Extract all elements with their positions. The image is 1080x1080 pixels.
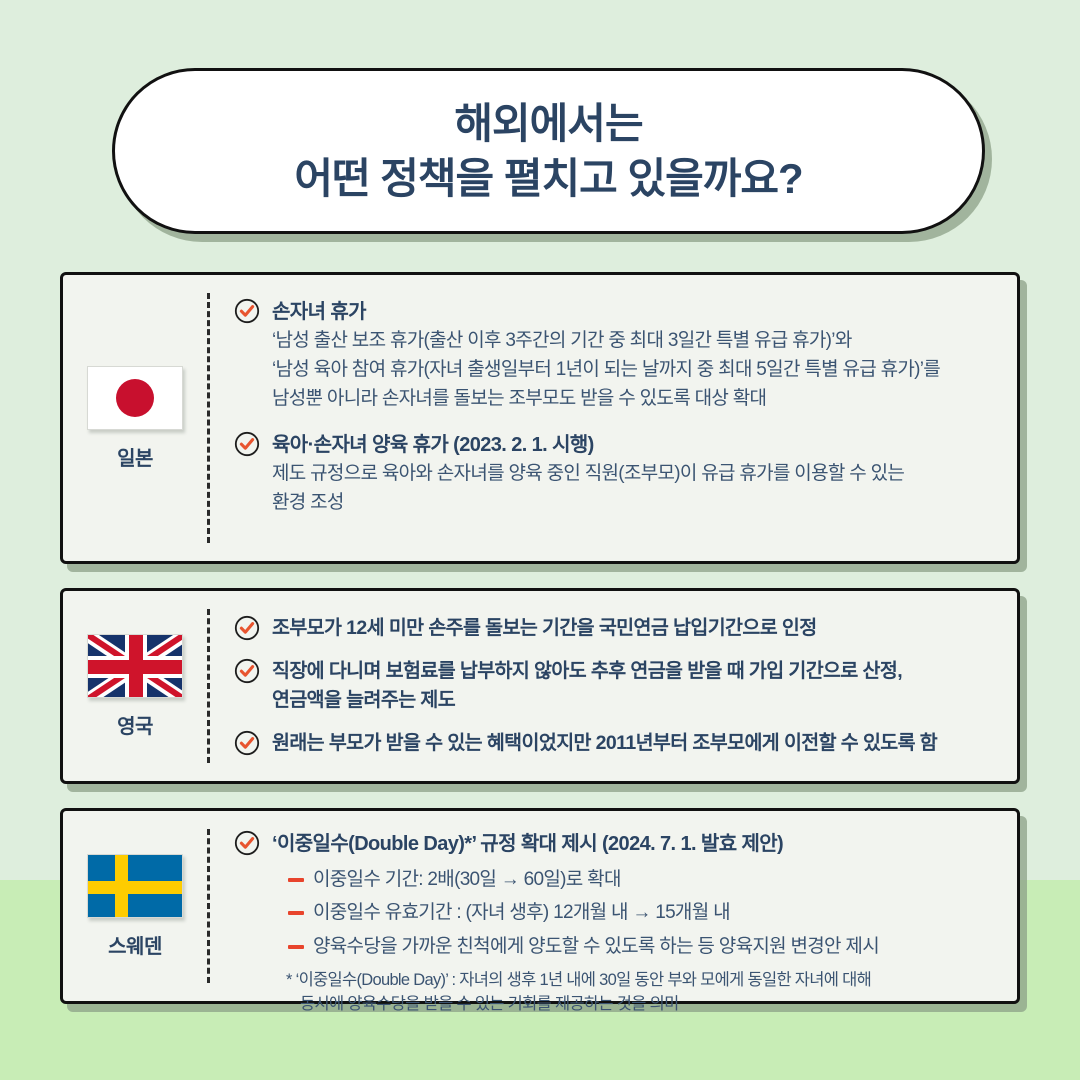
sub-bullet-text: 이중일수 기간: 2배(30일 → 60일)로 확대 — [313, 865, 621, 894]
check-circle-icon — [234, 298, 260, 324]
bullet-item: 육아·손자녀 양육 휴가 (2023. 2. 1. 시행) 제도 규정으로 육아… — [234, 430, 997, 518]
uk-cross-red-v — [129, 635, 143, 698]
flag-column: 영국 — [63, 591, 207, 781]
bullet-body: 조부모가 12세 미만 손주를 돌보는 기간을 국민연금 납입기간으로 인정 — [272, 614, 997, 643]
check-circle-icon — [234, 830, 260, 856]
flag-japan-icon — [87, 366, 183, 430]
check-circle-icon — [234, 615, 260, 641]
bullet-line: 남성뿐 아니라 손자녀를 돌보는 조부모도 받을 수 있도록 대상 확대 — [272, 385, 997, 414]
bullet-item: 조부모가 12세 미만 손주를 돌보는 기간을 국민연금 납입기간으로 인정 — [234, 614, 997, 643]
bullet-line: ‘남성 육아 참여 휴가(자녀 출생일부터 1년이 되는 날까지 중 최대 5일… — [272, 356, 997, 385]
dash-icon — [288, 878, 304, 882]
bullet-item: ‘이중일수(Double Day)*’ 규정 확대 제시 (2024. 7. 1… — [234, 829, 997, 1017]
sweden-cross-v — [115, 855, 128, 918]
dash-icon — [288, 911, 304, 915]
bullet-line: 조부모가 12세 미만 손주를 돌보는 기간을 국민연금 납입기간으로 인정 — [272, 614, 997, 643]
card-content-uk: 조부모가 12세 미만 손주를 돌보는 기간을 국민연금 납입기간으로 인정 직… — [210, 591, 1017, 781]
flag-uk-icon — [87, 634, 183, 698]
country-label-sweden: 스웨덴 — [108, 930, 162, 959]
bullet-body: 손자녀 휴가 ‘남성 출산 보조 휴가(출산 이후 3주간의 기간 중 최대 3… — [272, 297, 997, 414]
bullet-heading: 육아·손자녀 양육 휴가 (2023. 2. 1. 시행) — [272, 430, 997, 460]
bullet-item: 손자녀 휴가 ‘남성 출산 보조 휴가(출산 이후 3주간의 기간 중 최대 3… — [234, 297, 997, 414]
check-circle-icon — [234, 730, 260, 756]
sub-bullet-list: 이중일수 기간: 2배(30일 → 60일)로 확대 이중일수 유효기간 : (… — [272, 865, 997, 961]
bullet-body: 육아·손자녀 양육 휴가 (2023. 2. 1. 시행) 제도 규정으로 육아… — [272, 430, 997, 518]
bullet-line: ‘남성 출산 보조 휴가(출산 이후 3주간의 기간 중 최대 3일간 특별 유… — [272, 327, 997, 356]
flag-column: 일본 — [63, 275, 207, 561]
bullet-body: 원래는 부모가 받을 수 있는 혜택이었지만 2011년부터 조부모에게 이전할… — [272, 729, 997, 758]
sweden-cross-h — [88, 881, 183, 894]
country-label-japan: 일본 — [117, 442, 153, 471]
country-label-uk: 영국 — [117, 710, 153, 739]
country-card-uk: 영국 조부모가 12세 미만 손주를 돌보는 기간을 국민연금 납입기간으로 인… — [60, 588, 1020, 784]
flag-sweden-icon — [87, 854, 183, 918]
title-line-2: 어떤 정책을 펼치고 있을까요? — [294, 153, 802, 204]
bullet-line: 환경 조성 — [272, 489, 997, 518]
dash-icon — [288, 945, 304, 949]
bullet-body: 직장에 다니며 보험료를 납부하지 않아도 추후 연금을 받을 때 가입 기간으… — [272, 657, 997, 716]
sub-bullet-text: 이중일수 유효기간 : (자녀 생후) 12개월 내 → 15개월 내 — [313, 898, 730, 927]
card-content-sweden: ‘이중일수(Double Day)*’ 규정 확대 제시 (2024. 7. 1… — [210, 811, 1017, 1001]
card-content-japan: 손자녀 휴가 ‘남성 출산 보조 휴가(출산 이후 3주간의 기간 중 최대 3… — [210, 275, 1017, 561]
country-card-japan: 일본 손자녀 휴가 ‘남성 출산 보조 휴가(출산 이후 3주간의 기간 중 최… — [60, 272, 1020, 564]
footnote-line-2: 동시에 양육수당을 받을 수 있는 기회를 제공하는 것을 의미 — [286, 993, 997, 1017]
title-line-1: 해외에서는 — [454, 98, 642, 149]
bullet-line: 연금액을 늘려주는 제도 — [272, 686, 997, 715]
title-card: 해외에서는 어떤 정책을 펼치고 있을까요? — [112, 68, 985, 234]
bullet-item: 원래는 부모가 받을 수 있는 혜택이었지만 2011년부터 조부모에게 이전할… — [234, 729, 997, 758]
japan-sun-disc — [116, 379, 154, 417]
check-circle-icon — [234, 658, 260, 684]
check-circle-icon — [234, 431, 260, 457]
sub-bullet-text: 양육수당을 가까운 친척에게 양도할 수 있도록 하는 등 양육지원 변경안 제… — [313, 932, 879, 961]
bullet-line: 직장에 다니며 보험료를 납부하지 않아도 추후 연금을 받을 때 가입 기간으… — [272, 657, 997, 686]
country-card-sweden: 스웨덴 ‘이중일수(Double Day)*’ 규정 확대 제시 (2024. … — [60, 808, 1020, 1004]
footnote: * ‘이중일수(Double Day)’ : 자녀의 생후 1년 내에 30일 … — [272, 969, 997, 1017]
sub-bullet-item: 이중일수 기간: 2배(30일 → 60일)로 확대 — [288, 865, 997, 894]
flag-column: 스웨덴 — [63, 811, 207, 1001]
bullet-heading: ‘이중일수(Double Day)*’ 규정 확대 제시 (2024. 7. 1… — [272, 829, 997, 859]
bullet-line: 원래는 부모가 받을 수 있는 혜택이었지만 2011년부터 조부모에게 이전할… — [272, 729, 997, 758]
sub-bullet-item: 이중일수 유효기간 : (자녀 생후) 12개월 내 → 15개월 내 — [288, 898, 997, 927]
sub-bullet-item: 양육수당을 가까운 친척에게 양도할 수 있도록 하는 등 양육지원 변경안 제… — [288, 932, 997, 961]
bullet-line: 제도 규정으로 육아와 손자녀를 양육 중인 직원(조부모)이 유급 휴가를 이… — [272, 460, 997, 489]
footnote-line-1: * ‘이중일수(Double Day)’ : 자녀의 생후 1년 내에 30일 … — [286, 971, 871, 989]
bullet-body: ‘이중일수(Double Day)*’ 규정 확대 제시 (2024. 7. 1… — [272, 829, 997, 1017]
infographic-page: 해외에서는 어떤 정책을 펼치고 있을까요? 일본 손자녀 휴가 ‘ — [0, 0, 1080, 1080]
bullet-item: 직장에 다니며 보험료를 납부하지 않아도 추후 연금을 받을 때 가입 기간으… — [234, 657, 997, 716]
bullet-heading: 손자녀 휴가 — [272, 297, 997, 327]
